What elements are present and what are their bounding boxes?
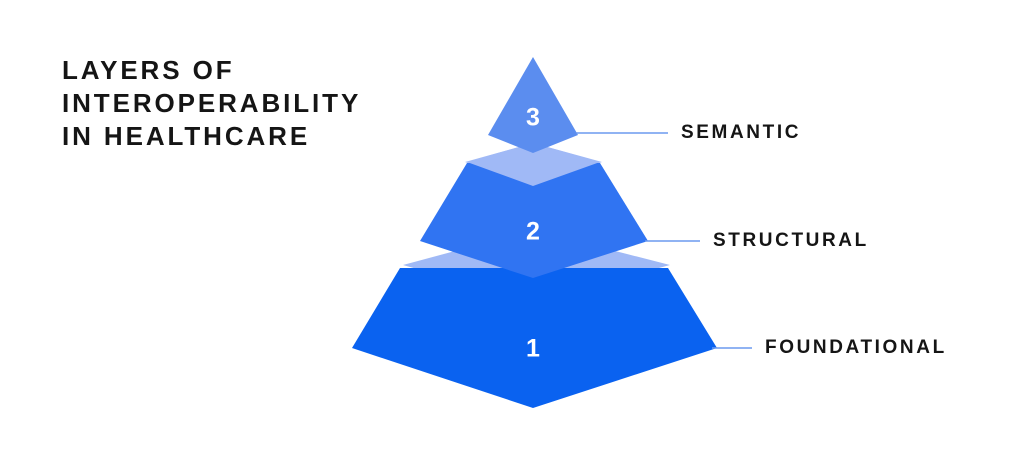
pyramid-diagram: 1 2 3 (0, 0, 1024, 463)
tier-label-foundational[interactable]: FOUNDATIONAL (765, 337, 947, 359)
tier-1-number: 1 (526, 335, 540, 363)
tier-3-number: 3 (526, 104, 540, 132)
tier-2-number: 2 (526, 218, 540, 246)
infographic-canvas: LAYERS OF INTEROPERABILITY IN HEALTHCARE… (0, 0, 1024, 463)
tier-label-semantic[interactable]: SEMANTIC (681, 122, 801, 144)
tier-label-structural[interactable]: STRUCTURAL (713, 230, 869, 252)
pyramid-tier-semantic[interactable]: 3 (467, 57, 668, 186)
